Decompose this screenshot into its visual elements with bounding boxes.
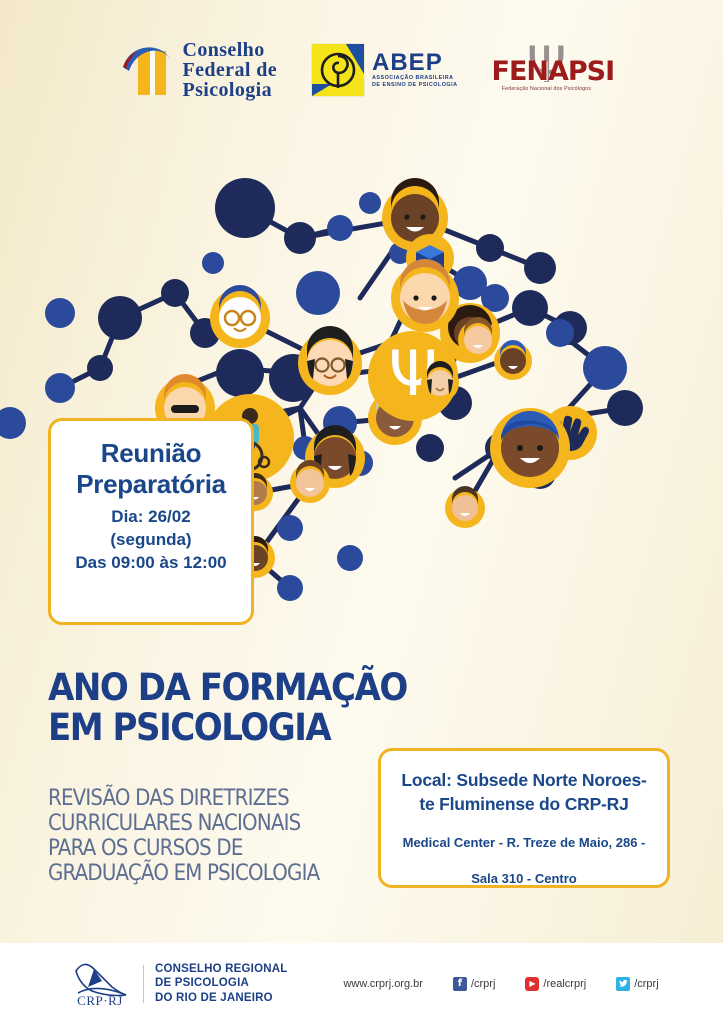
- youtube-icon: ▶: [525, 977, 539, 991]
- meeting-time: Das 09:00 às 12:00: [51, 551, 251, 574]
- avatar-woman-glasses: [298, 326, 362, 395]
- abep-acronym: ABEP: [372, 51, 457, 75]
- logo-crp-rj: CRP·RJ CONSELHO REGIONAL DE PSICOLOGIA D…: [68, 961, 287, 1007]
- subtitle-line-3: PARA OS CURSOS DE: [48, 836, 354, 861]
- cfp-line-3: Psicologia: [182, 80, 277, 100]
- page-title: ANO DA FORMAÇÃO EM PSICOLOGIA: [48, 668, 408, 748]
- location-line-2: te Fluminense do CRP-RJ: [393, 792, 655, 816]
- avatar-boy-cap: [494, 340, 532, 380]
- cfp-wordmark: Conselho Federal de Psicologia: [182, 40, 277, 100]
- abep-wordmark: ABEP ASSOCIAÇÃO BRASILEIRA DE ENSINO DE …: [372, 51, 457, 89]
- twitter-link[interactable]: /crprj: [616, 977, 658, 991]
- meeting-title-line-1: Reunião: [51, 438, 251, 469]
- location-address-2: Sala 310 - Centro: [393, 870, 655, 888]
- avatar-headwrap-woman: [490, 408, 570, 488]
- avatar-glasses: [210, 285, 270, 348]
- youtube-handle: /realcrprj: [543, 978, 586, 990]
- crp-line-2: DE PSICOLOGIA: [155, 976, 287, 991]
- facebook-link[interactable]: f /crprj: [453, 977, 495, 991]
- location-address-1: Medical Center - R. Treze de Maio, 286 -: [393, 834, 655, 852]
- meeting-weekday: (segunda): [51, 528, 251, 551]
- avatar-dark-boy: [329, 489, 331, 491]
- footer: CRP·RJ CONSELHO REGIONAL DE PSICOLOGIA D…: [0, 943, 723, 1024]
- crp-line-1: CONSELHO REGIONAL: [155, 962, 287, 977]
- crp-line-3: DO RIO DE JANEIRO: [155, 991, 287, 1006]
- abep-sub-1: ASSOCIAÇÃO BRASILEIRA: [372, 75, 457, 82]
- abep-sub-2: DE ENSINO DE PSICOLOGIA: [372, 82, 457, 89]
- subtitle-line-1: REVISÃO DAS DIRETRIZES: [48, 786, 354, 811]
- footer-divider: [143, 965, 144, 1003]
- location-info-box: Local: Subsede Norte Noroes- te Fluminen…: [378, 748, 670, 888]
- cfp-mark-icon: [121, 45, 173, 95]
- logo-fenapsi: Ψ FENAPSI Federação Nacional dos Psicólo…: [492, 42, 602, 98]
- crp-abbr: CRP·RJ: [68, 993, 132, 1009]
- logo-abep: ABEP ASSOCIAÇÃO BRASILEIRA DE ENSINO DE …: [311, 43, 457, 97]
- headline-line-1: ANO DA FORMAÇÃO: [48, 668, 379, 708]
- fenapsi-sub: Federação Nacional dos Psicólogos: [492, 86, 602, 92]
- twitter-handle: /crprj: [634, 978, 658, 990]
- twitter-icon: [616, 977, 630, 991]
- website-link[interactable]: www.crprj.org.br: [343, 978, 422, 990]
- subtitle-line-4: GRADUAÇÃO EM PSICOLOGIA: [48, 861, 354, 886]
- avatar-lower-boy: [445, 486, 485, 528]
- social-links: www.crprj.org.br f /crprj ▶ /realcrprj /…: [343, 977, 658, 991]
- fenapsi-acronym: FENAPSI: [492, 56, 602, 87]
- crp-wordmark: CONSELHO REGIONAL DE PSICOLOGIA DO RIO D…: [155, 962, 287, 1006]
- location-line-1: Local: Subsede Norte Noroes-: [393, 768, 655, 792]
- partner-logos: Conselho Federal de Psicologia ABEP ASSO…: [0, 30, 723, 110]
- abep-mark-icon: [311, 43, 365, 97]
- meeting-info-box: Reunião Preparatória Dia: 26/02 (segunda…: [48, 418, 254, 625]
- cfp-line-1: Conselho: [182, 40, 277, 60]
- youtube-link[interactable]: ▶ /realcrprj: [525, 977, 586, 991]
- subtitle-line-2: CURRICULARES NACIONAIS: [48, 811, 354, 836]
- headline-line-2: EM PSICOLOGIA: [48, 708, 379, 748]
- cfp-line-2: Federal de: [182, 60, 277, 80]
- crp-bird-icon: CRP·RJ: [68, 961, 132, 1007]
- meeting-date: Dia: 26/02: [51, 505, 251, 528]
- meeting-title-line-2: Preparatória: [51, 469, 251, 500]
- page-subtitle: REVISÃO DAS DIRETRIZES CURRICULARES NACI…: [48, 786, 388, 886]
- poster: Conselho Federal de Psicologia ABEP ASSO…: [0, 0, 723, 1024]
- logo-conselho-federal-de-psicologia: Conselho Federal de Psicologia: [121, 40, 277, 100]
- facebook-icon: f: [453, 977, 467, 991]
- facebook-handle: /crprj: [471, 978, 495, 990]
